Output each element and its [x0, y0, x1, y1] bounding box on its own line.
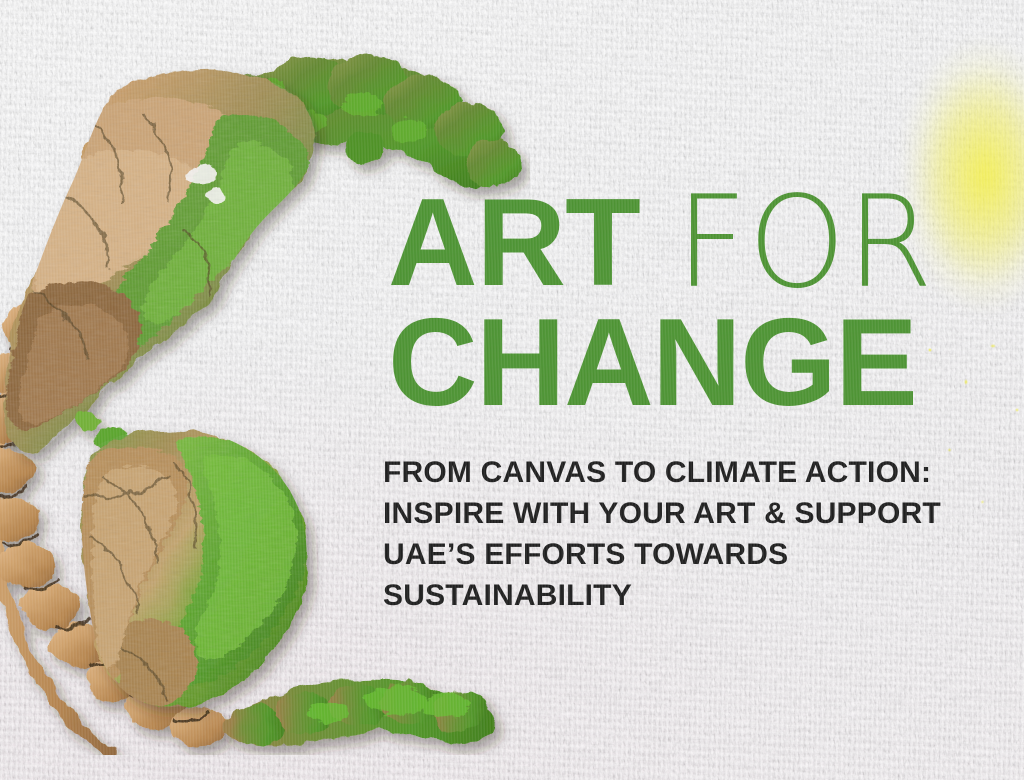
subtitle-line-3: UAE’S EFFORTS TOWARDS [383, 534, 1008, 575]
headline-word-art: ART [388, 186, 640, 300]
subtitle-block: FROM CANVAS TO CLIMATE ACTION: INSPIRE W… [383, 452, 1008, 616]
headline-block: ART FOR CHANGE [388, 186, 1008, 420]
subtitle-line-1: FROM CANVAS TO CLIMATE ACTION: [383, 452, 1008, 493]
poster-root: ART FOR CHANGE FROM CANVAS TO CLIMATE AC… [0, 0, 1024, 780]
subtitle-line-4: SUSTAINABILITY [383, 575, 1008, 616]
headline-word-for: FOR [676, 185, 934, 301]
headline-line-1: ART FOR [388, 186, 1008, 300]
headline-line-2: CHANGE [388, 306, 1008, 420]
subtitle-line-2: INSPIRE WITH YOUR ART & SUPPORT [383, 493, 1008, 534]
